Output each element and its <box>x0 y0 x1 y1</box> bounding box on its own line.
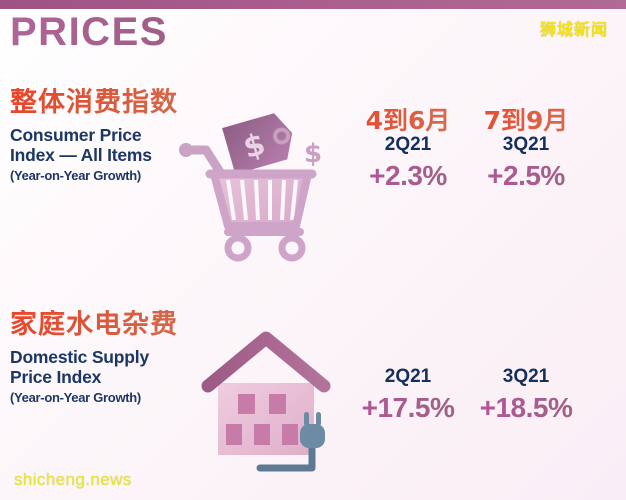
page-title: PRICES <box>10 12 168 52</box>
cpi-value-3q21: +2.5% <box>466 158 586 193</box>
infographic-poster: 狮城新闻 PRICES 整体消费指数 Consumer Price Index … <box>0 0 626 500</box>
cpi-stat-2q21: 4到6月 2Q21 +2.3% <box>348 108 468 193</box>
dspi-quarter-3q21: 3Q21 <box>466 365 586 390</box>
source-watermark: shicheng.news <box>14 470 132 490</box>
dspi-stat-2q21: 2Q21 +17.5% <box>348 365 468 425</box>
dspi-english-subtitle: (Year-on-Year Growth) <box>10 390 220 405</box>
dspi-stat-3q21: 3Q21 +18.5% <box>466 365 586 425</box>
dspi-value-3q21: +18.5% <box>466 390 586 425</box>
dspi-quarter-2q21: 2Q21 <box>348 365 468 390</box>
cpi-value-2q21: +2.3% <box>348 158 468 193</box>
dspi-label-column: 家庭水电杂费 Domestic Supply Price Index (Year… <box>10 310 220 405</box>
cpi-quarter-3q21: 3Q21 <box>466 133 586 158</box>
dspi-chinese-heading: 家庭水电杂费 <box>10 310 220 340</box>
dspi-english-heading: Domestic Supply Price Index <box>10 348 220 388</box>
top-accent-bar <box>0 0 626 9</box>
shopping-cart-icon: $ $ <box>176 102 326 267</box>
section-consumer-price-index: 整体消费指数 Consumer Price Index — All Items … <box>0 88 626 268</box>
house-plug-icon <box>196 328 356 483</box>
brand-watermark: 狮城新闻 <box>540 16 608 40</box>
cpi-range-label-3q21: 7到9月 <box>466 108 586 133</box>
svg-text:$: $ <box>304 139 322 169</box>
cpi-stat-3q21: 7到9月 3Q21 +2.5% <box>466 108 586 193</box>
cpi-range-label-2q21: 4到6月 <box>348 108 468 133</box>
section-domestic-supply-price-index: 家庭水电杂费 Domestic Supply Price Index (Year… <box>0 310 626 490</box>
dspi-value-2q21: +17.5% <box>348 390 468 425</box>
dspi-english-heading-line2: Price Index <box>10 368 220 388</box>
dspi-english-heading-line1: Domestic Supply <box>10 348 220 368</box>
cpi-quarter-2q21: 2Q21 <box>348 133 468 158</box>
